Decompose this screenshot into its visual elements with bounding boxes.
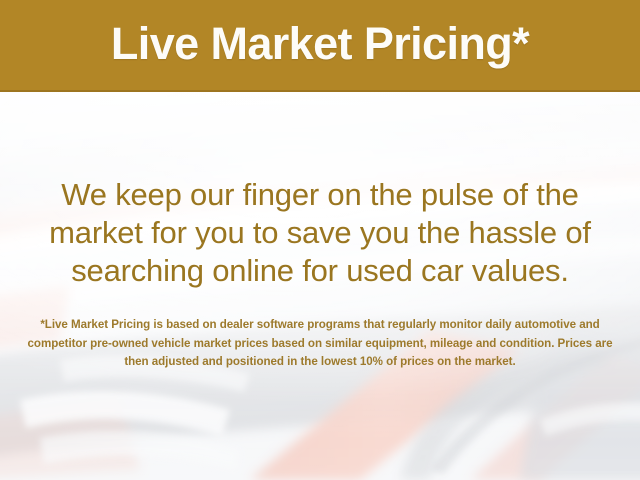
- header-bar: Live Market Pricing*: [0, 0, 640, 92]
- live-market-pricing-banner: Live Market Pricing* We keep our finger …: [0, 0, 640, 480]
- headline-text: We keep our finger on the pulse of the m…: [20, 176, 620, 290]
- content-area: We keep our finger on the pulse of the m…: [0, 92, 640, 480]
- disclaimer-text: *Live Market Pricing is based on dealer …: [22, 316, 618, 372]
- page-title: Live Market Pricing*: [111, 21, 529, 70]
